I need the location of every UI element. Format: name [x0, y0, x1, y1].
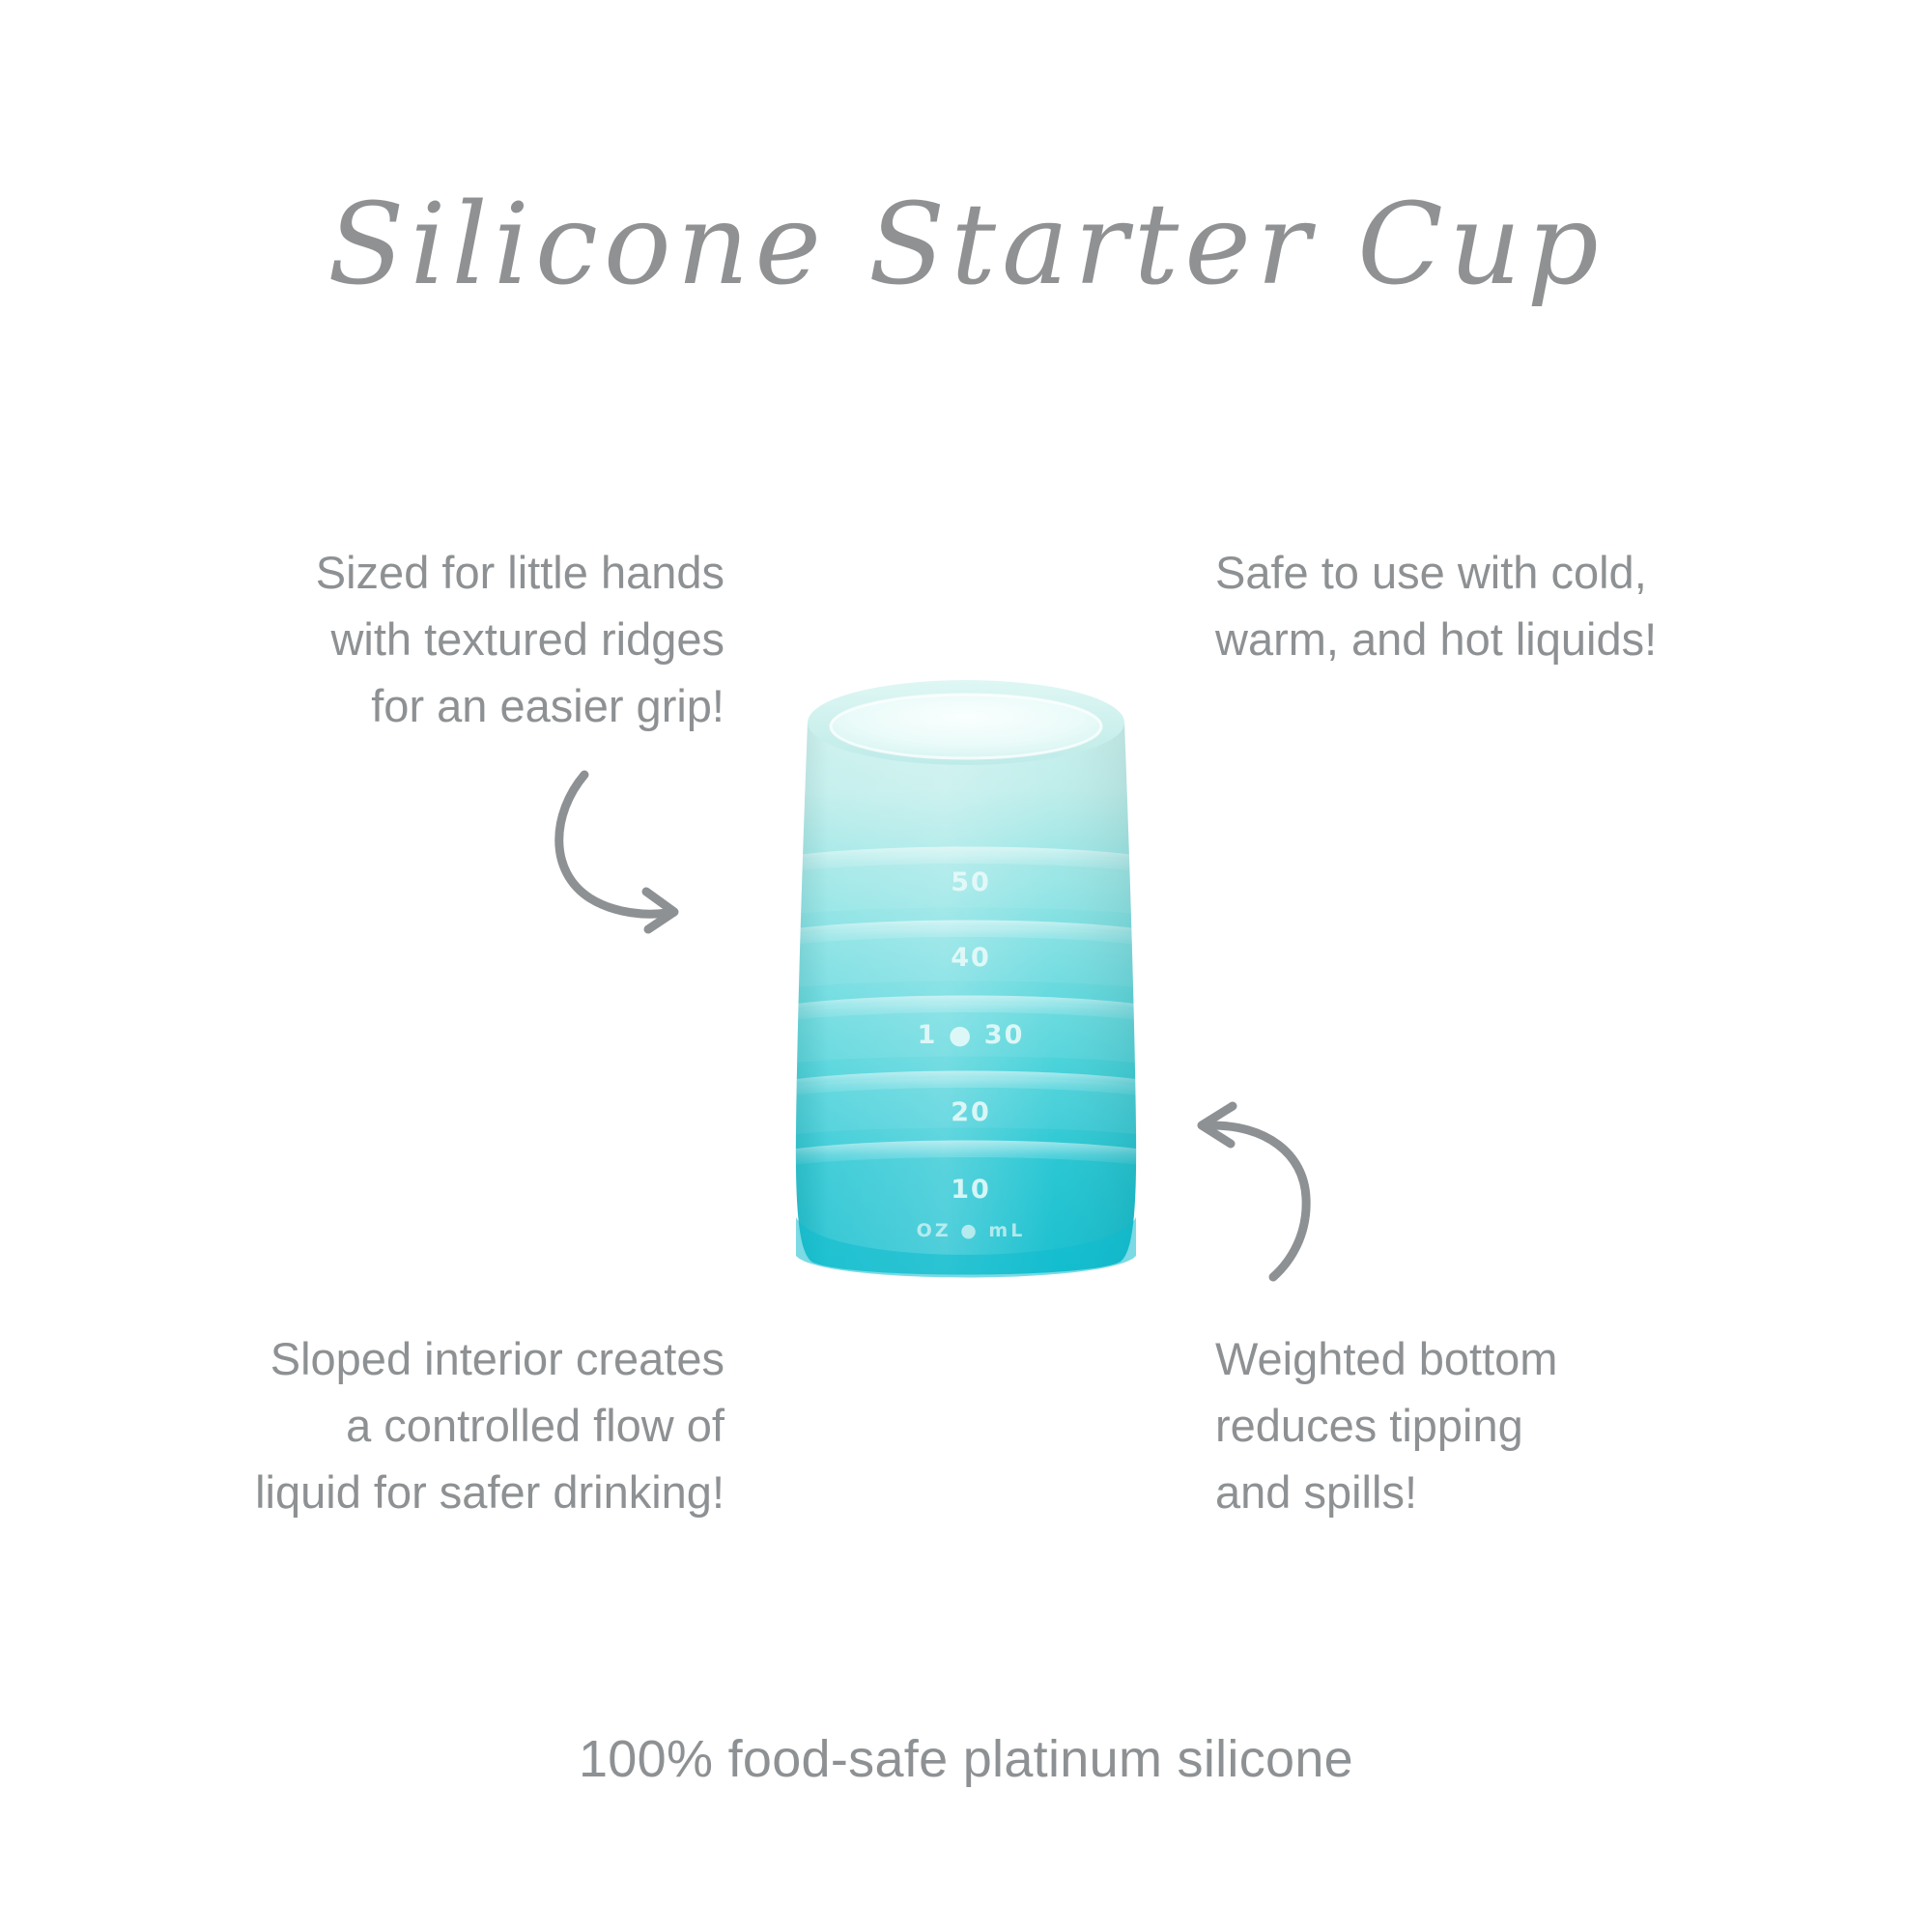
measurement-10: 10 — [951, 1175, 991, 1205]
measurement-50: 50 — [951, 867, 991, 897]
measurement-unit-label: OZ ● mL — [917, 1220, 1026, 1241]
cup-illustration: 50 40 1 ● 30 20 10 OZ ● mL — [773, 676, 1159, 1294]
infographic-canvas: Silicone Starter Cup Sized for little ha… — [0, 0, 1932, 1932]
curved-arrow-icon-right — [1177, 1090, 1360, 1283]
cup-rim — [808, 680, 1124, 765]
callout-weighted-bottom: Weighted bottom reduces tipping and spil… — [1215, 1325, 1853, 1525]
measurement-1oz-30ml: 1 ● 30 — [918, 1020, 1025, 1050]
measurement-20: 20 — [951, 1097, 991, 1127]
page-title: Silicone Starter Cup — [0, 189, 1932, 301]
footer-material-note: 100% food-safe platinum silicone — [0, 1729, 1932, 1789]
product-image-silicone-cup: 50 40 1 ● 30 20 10 OZ ● mL — [773, 676, 1159, 1294]
callout-safe-temperatures: Safe to use with cold, warm, and hot liq… — [1215, 539, 1853, 672]
callout-sized-for-little-hands: Sized for little hands with textured rid… — [106, 539, 724, 739]
measurement-40: 40 — [951, 943, 991, 973]
curved-arrow-icon-left — [546, 763, 700, 932]
callout-sloped-interior: Sloped interior creates a controlled flo… — [58, 1325, 724, 1525]
